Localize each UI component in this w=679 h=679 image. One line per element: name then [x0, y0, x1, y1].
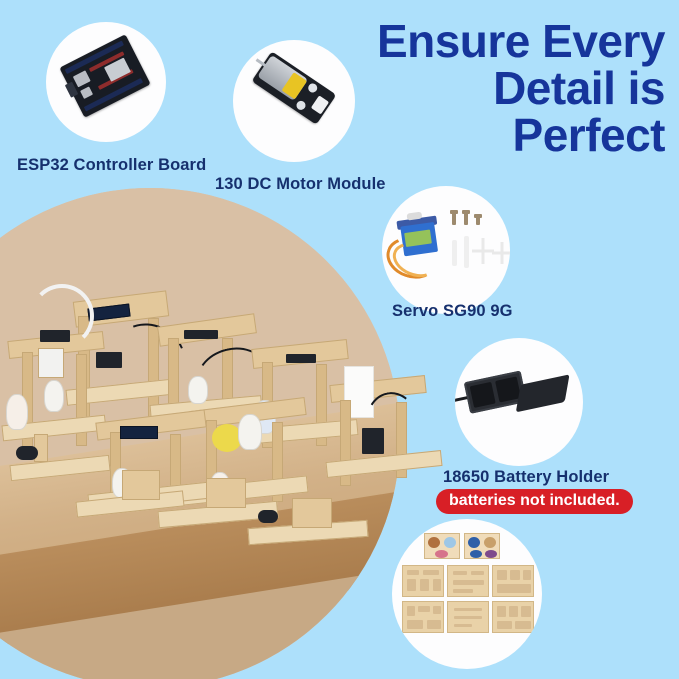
headline-line-3: Perfect [335, 112, 665, 159]
dc-motor-module-image [233, 40, 355, 162]
battery-case-lid [516, 374, 570, 412]
esp32-controller-board-image [46, 22, 166, 142]
servo-horn-single [464, 236, 469, 268]
motor-shaft [256, 58, 268, 67]
batteries-not-included-badge: batteries not included. [436, 489, 633, 514]
label-130-dc-motor-module: 130 DC Motor Module [215, 175, 386, 194]
motor-connector [311, 95, 329, 114]
label-esp32-controller-board: ESP32 Controller Board [17, 156, 206, 175]
servo-horn-cross [492, 242, 510, 264]
headline-line-1: Ensure Every [335, 18, 665, 65]
headline: Ensure Every Detail is Perfect [335, 18, 665, 159]
servo-screw [476, 214, 480, 225]
esp32-board-art [59, 34, 150, 117]
18650-battery-holder-image [455, 338, 583, 466]
headline-line-2: Detail is [335, 65, 665, 112]
label-servo-sg90-9g: Servo SG90 9G [392, 302, 513, 321]
battery-holder-art [464, 366, 549, 421]
product-infographic: Ensure Every Detail is Perfect ESP32 Con… [0, 0, 679, 679]
servo-horn-single [452, 240, 457, 266]
servo-horn-cross [472, 238, 494, 264]
servo-sg90-image [382, 186, 510, 314]
dc-motor-module-art [252, 51, 337, 124]
servo-screw [464, 210, 468, 225]
servo-screw [452, 210, 456, 225]
wooden-board-image [392, 519, 542, 669]
label-18650-battery-holder: 18650 Battery Holder [443, 468, 609, 487]
